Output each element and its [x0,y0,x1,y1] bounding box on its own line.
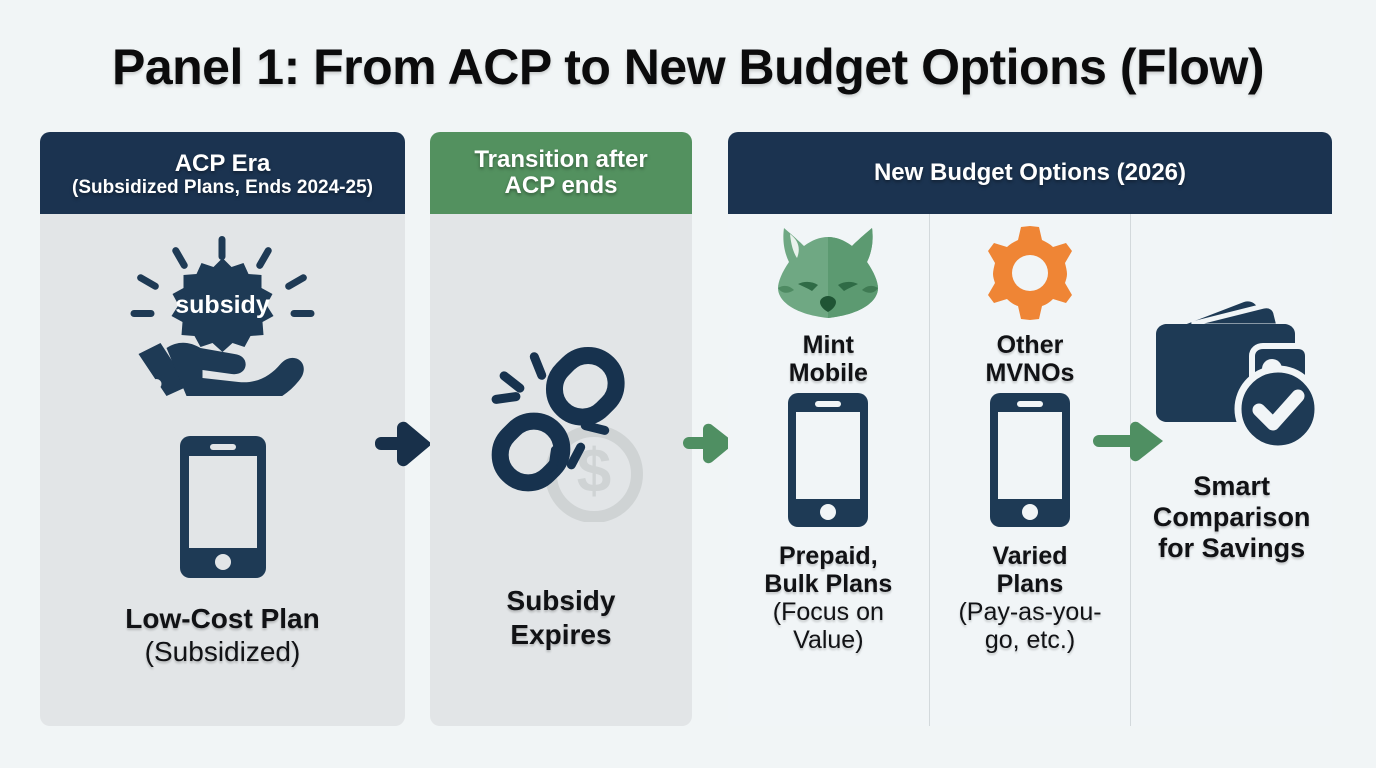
column-other-mvnos-caption-b2: Plans [958,570,1101,598]
panel-acp-header: ACP Era (Subsidized Plans, Ends 2024-25) [40,132,405,214]
wallet-caption-line3: for Savings [1153,533,1311,564]
column-smart-comparison-caption: Smart Comparison for Savings [1153,471,1311,563]
broken-chain-icon: $ [476,332,646,527]
column-other-mvnos-caption-r1: (Pay-as-you- [958,598,1101,626]
panel-transition-caption: Subsidy Expires [430,584,692,651]
panel-transition-caption-line1: Subsidy [430,584,692,618]
panel-acp-caption-regular: (Subsidized) [40,635,405,668]
smartphone-icon [180,436,266,583]
wallet-caption-line2: Comparison [1153,502,1311,533]
smartphone-icon [788,393,868,532]
column-mint-mobile-caption: Prepaid, Bulk Plans (Focus on Value) [764,542,892,654]
column-mint-mobile-caption-r2: Value) [764,626,892,654]
subsidy-badge-label: subsidy [175,291,270,319]
column-mint-mobile-title-line2: Mobile [789,359,868,387]
column-other-mvnos-caption: Varied Plans (Pay-as-you- go, etc.) [958,542,1101,654]
panel-new-budget-options: New Budget Options (2026) Mint Mobile [728,132,1332,726]
wallet-caption-line1: Smart [1153,471,1311,502]
panel-acp-caption-bold: Low-Cost Plan [40,602,405,635]
column-mint-mobile: Mint Mobile Prepaid, Bulk Plans (Focus o… [728,214,930,726]
panel-acp-caption: Low-Cost Plan (Subsidized) [40,602,405,668]
panel-transition-header-line2: ACP ends [505,173,618,199]
panel-transition-body: $ [430,214,692,726]
gear-icon [981,224,1079,325]
wallet-with-check-icon [1148,294,1316,457]
arrow-acp-to-transition-icon [375,418,437,475]
panel-acp-era: ACP Era (Subsidized Plans, Ends 2024-25) [40,132,405,726]
panel-acp-header-subtitle: (Subsidized Plans, Ends 2024-25) [72,177,373,199]
column-mint-mobile-caption-b2: Bulk Plans [764,570,892,598]
panel-transition-header: Transition after ACP ends [430,132,692,214]
column-mint-mobile-title-line1: Mint [789,331,868,359]
column-other-mvnos-title-line2: MVNOs [986,359,1075,387]
panel-transition-header-line1: Transition after [474,147,647,173]
panel-new-header: New Budget Options (2026) [728,132,1332,214]
page-title: Panel 1: From ACP to New Budget Options … [0,38,1376,96]
panel-transition-caption-line2: Expires [430,618,692,652]
column-mint-mobile-caption-b1: Prepaid, [764,542,892,570]
column-other-mvnos-title-line1: Other [986,331,1075,359]
smartphone-icon [990,393,1070,532]
panel-transition: Transition after ACP ends $ [430,132,692,726]
column-other-mvnos-caption-r2: go, etc.) [958,626,1101,654]
panel-new-body: Mint Mobile Prepaid, Bulk Plans (Focus o… [728,214,1332,726]
panel-acp-header-title: ACP Era [175,151,271,177]
hand-holding-subsidy-badge-icon: subsidy [130,236,315,401]
column-other-mvnos-title: Other MVNOs [986,331,1075,387]
column-mint-mobile-caption-r1: (Focus on [764,598,892,626]
panel-acp-body: subsidy Low-Cost Plan (Subsidiz [40,214,405,726]
arrow-mvnos-to-wallet-icon [1093,418,1167,471]
panel-new-header-title: New Budget Options (2026) [874,160,1186,186]
column-other-mvnos-caption-b1: Varied [958,542,1101,570]
column-mint-mobile-title: Mint Mobile [789,331,868,387]
fox-head-icon [774,224,882,325]
